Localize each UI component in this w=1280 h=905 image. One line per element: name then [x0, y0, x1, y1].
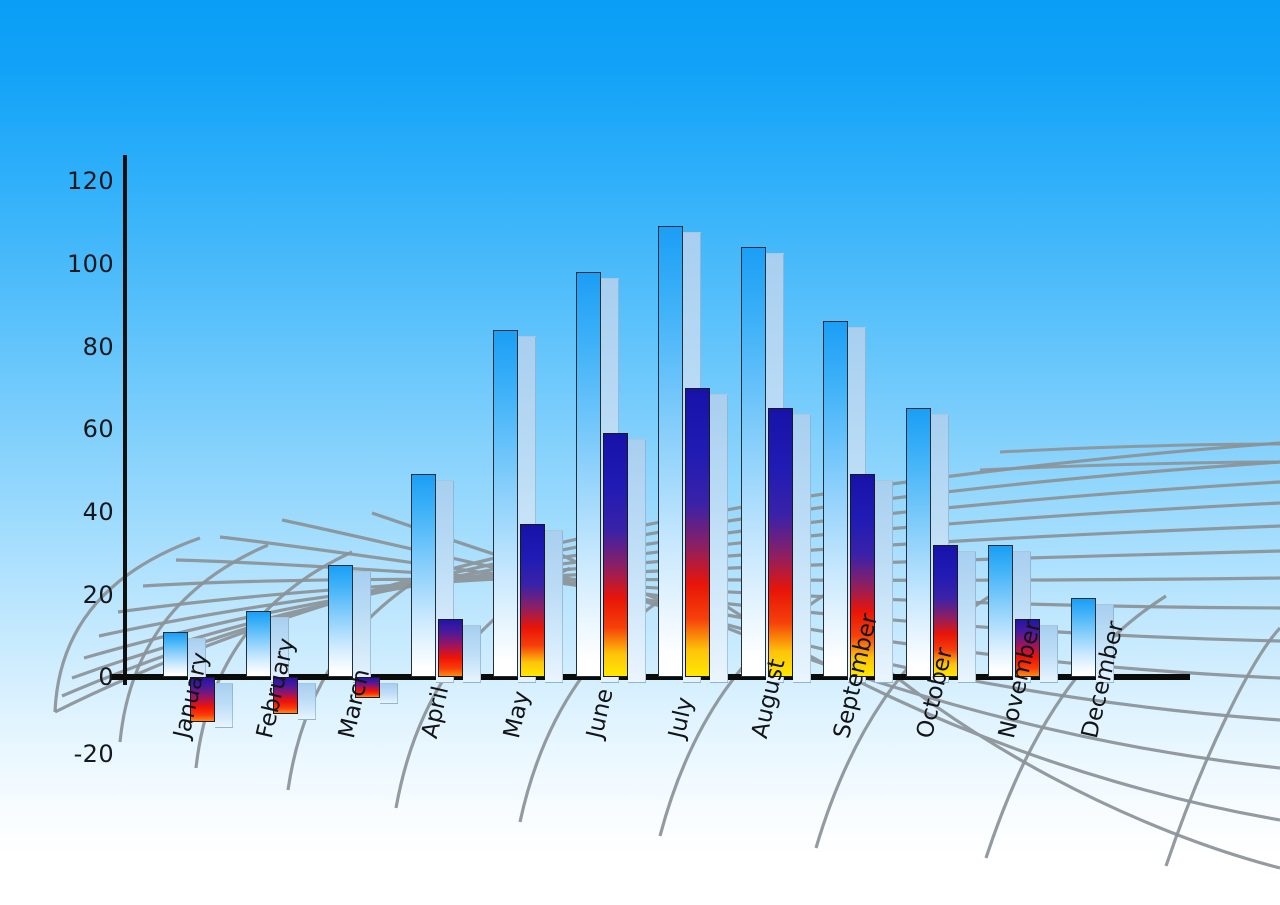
bar-side-panel: [628, 439, 646, 683]
bar-side-panel: [353, 571, 371, 683]
bar-side-panel: [793, 414, 811, 683]
bar-side-panel: [958, 551, 976, 683]
bar-series1-september: [823, 321, 848, 677]
bar-face: [1071, 598, 1096, 677]
bar-series1-august: [741, 247, 766, 677]
bar-face: [685, 388, 710, 677]
y-tick-100: 100: [44, 250, 114, 278]
bar-face: [520, 524, 545, 677]
bar-side-panel: [545, 530, 563, 683]
plot-area: 120 100 80 60 40 20 0 -20 JanuaryFebruar…: [0, 0, 1280, 905]
bar-side-panel: [710, 394, 728, 683]
y-tick-40: 40: [44, 498, 114, 526]
y-tick-20: 20: [44, 581, 114, 609]
bar-series2-may: [520, 524, 545, 677]
y-tick-minus-20: -20: [44, 740, 114, 768]
y-tick-0: 0: [44, 663, 114, 691]
bar-face: [741, 247, 766, 677]
bar-face: [988, 545, 1013, 677]
bar-series1-october: [906, 408, 931, 677]
y-axis-line: [123, 155, 127, 685]
bar-series1-march: [328, 565, 353, 677]
bar-face: [411, 474, 436, 677]
bar-face: [658, 226, 683, 677]
bar-series2-july: [685, 388, 710, 677]
bar-side-panel: [875, 480, 893, 683]
x-label-april: April: [417, 684, 454, 741]
x-label-may: May: [499, 689, 535, 741]
bar-face: [768, 408, 793, 677]
bar-side-panel: [298, 683, 316, 720]
y-tick-80: 80: [44, 333, 114, 361]
y-tick-120: 120: [44, 167, 114, 195]
bar-series1-november: [988, 545, 1013, 677]
bar-face: [576, 272, 601, 677]
bar-series2-august: [768, 408, 793, 677]
bar-face: [438, 619, 463, 677]
bar-series1-june: [576, 272, 601, 677]
bar-face: [823, 321, 848, 677]
bar-series1-july: [658, 226, 683, 677]
x-label-july: July: [664, 695, 699, 741]
y-tick-60: 60: [44, 415, 114, 443]
chart-canvas: 120 100 80 60 40 20 0 -20 JanuaryFebruar…: [0, 0, 1280, 905]
bar-side-panel: [463, 625, 481, 683]
bar-series1-may: [493, 330, 518, 677]
bar-side-panel: [380, 683, 398, 704]
bar-series1-april: [411, 474, 436, 677]
bar-series2-april: [438, 619, 463, 677]
bar-face: [328, 565, 353, 677]
bar-face: [906, 408, 931, 677]
bar-series1-december: [1071, 598, 1096, 677]
bar-series2-june: [603, 433, 628, 677]
bar-face: [603, 433, 628, 677]
x-label-june: June: [582, 686, 619, 741]
bar-face: [493, 330, 518, 677]
bar-side-panel: [215, 683, 233, 728]
